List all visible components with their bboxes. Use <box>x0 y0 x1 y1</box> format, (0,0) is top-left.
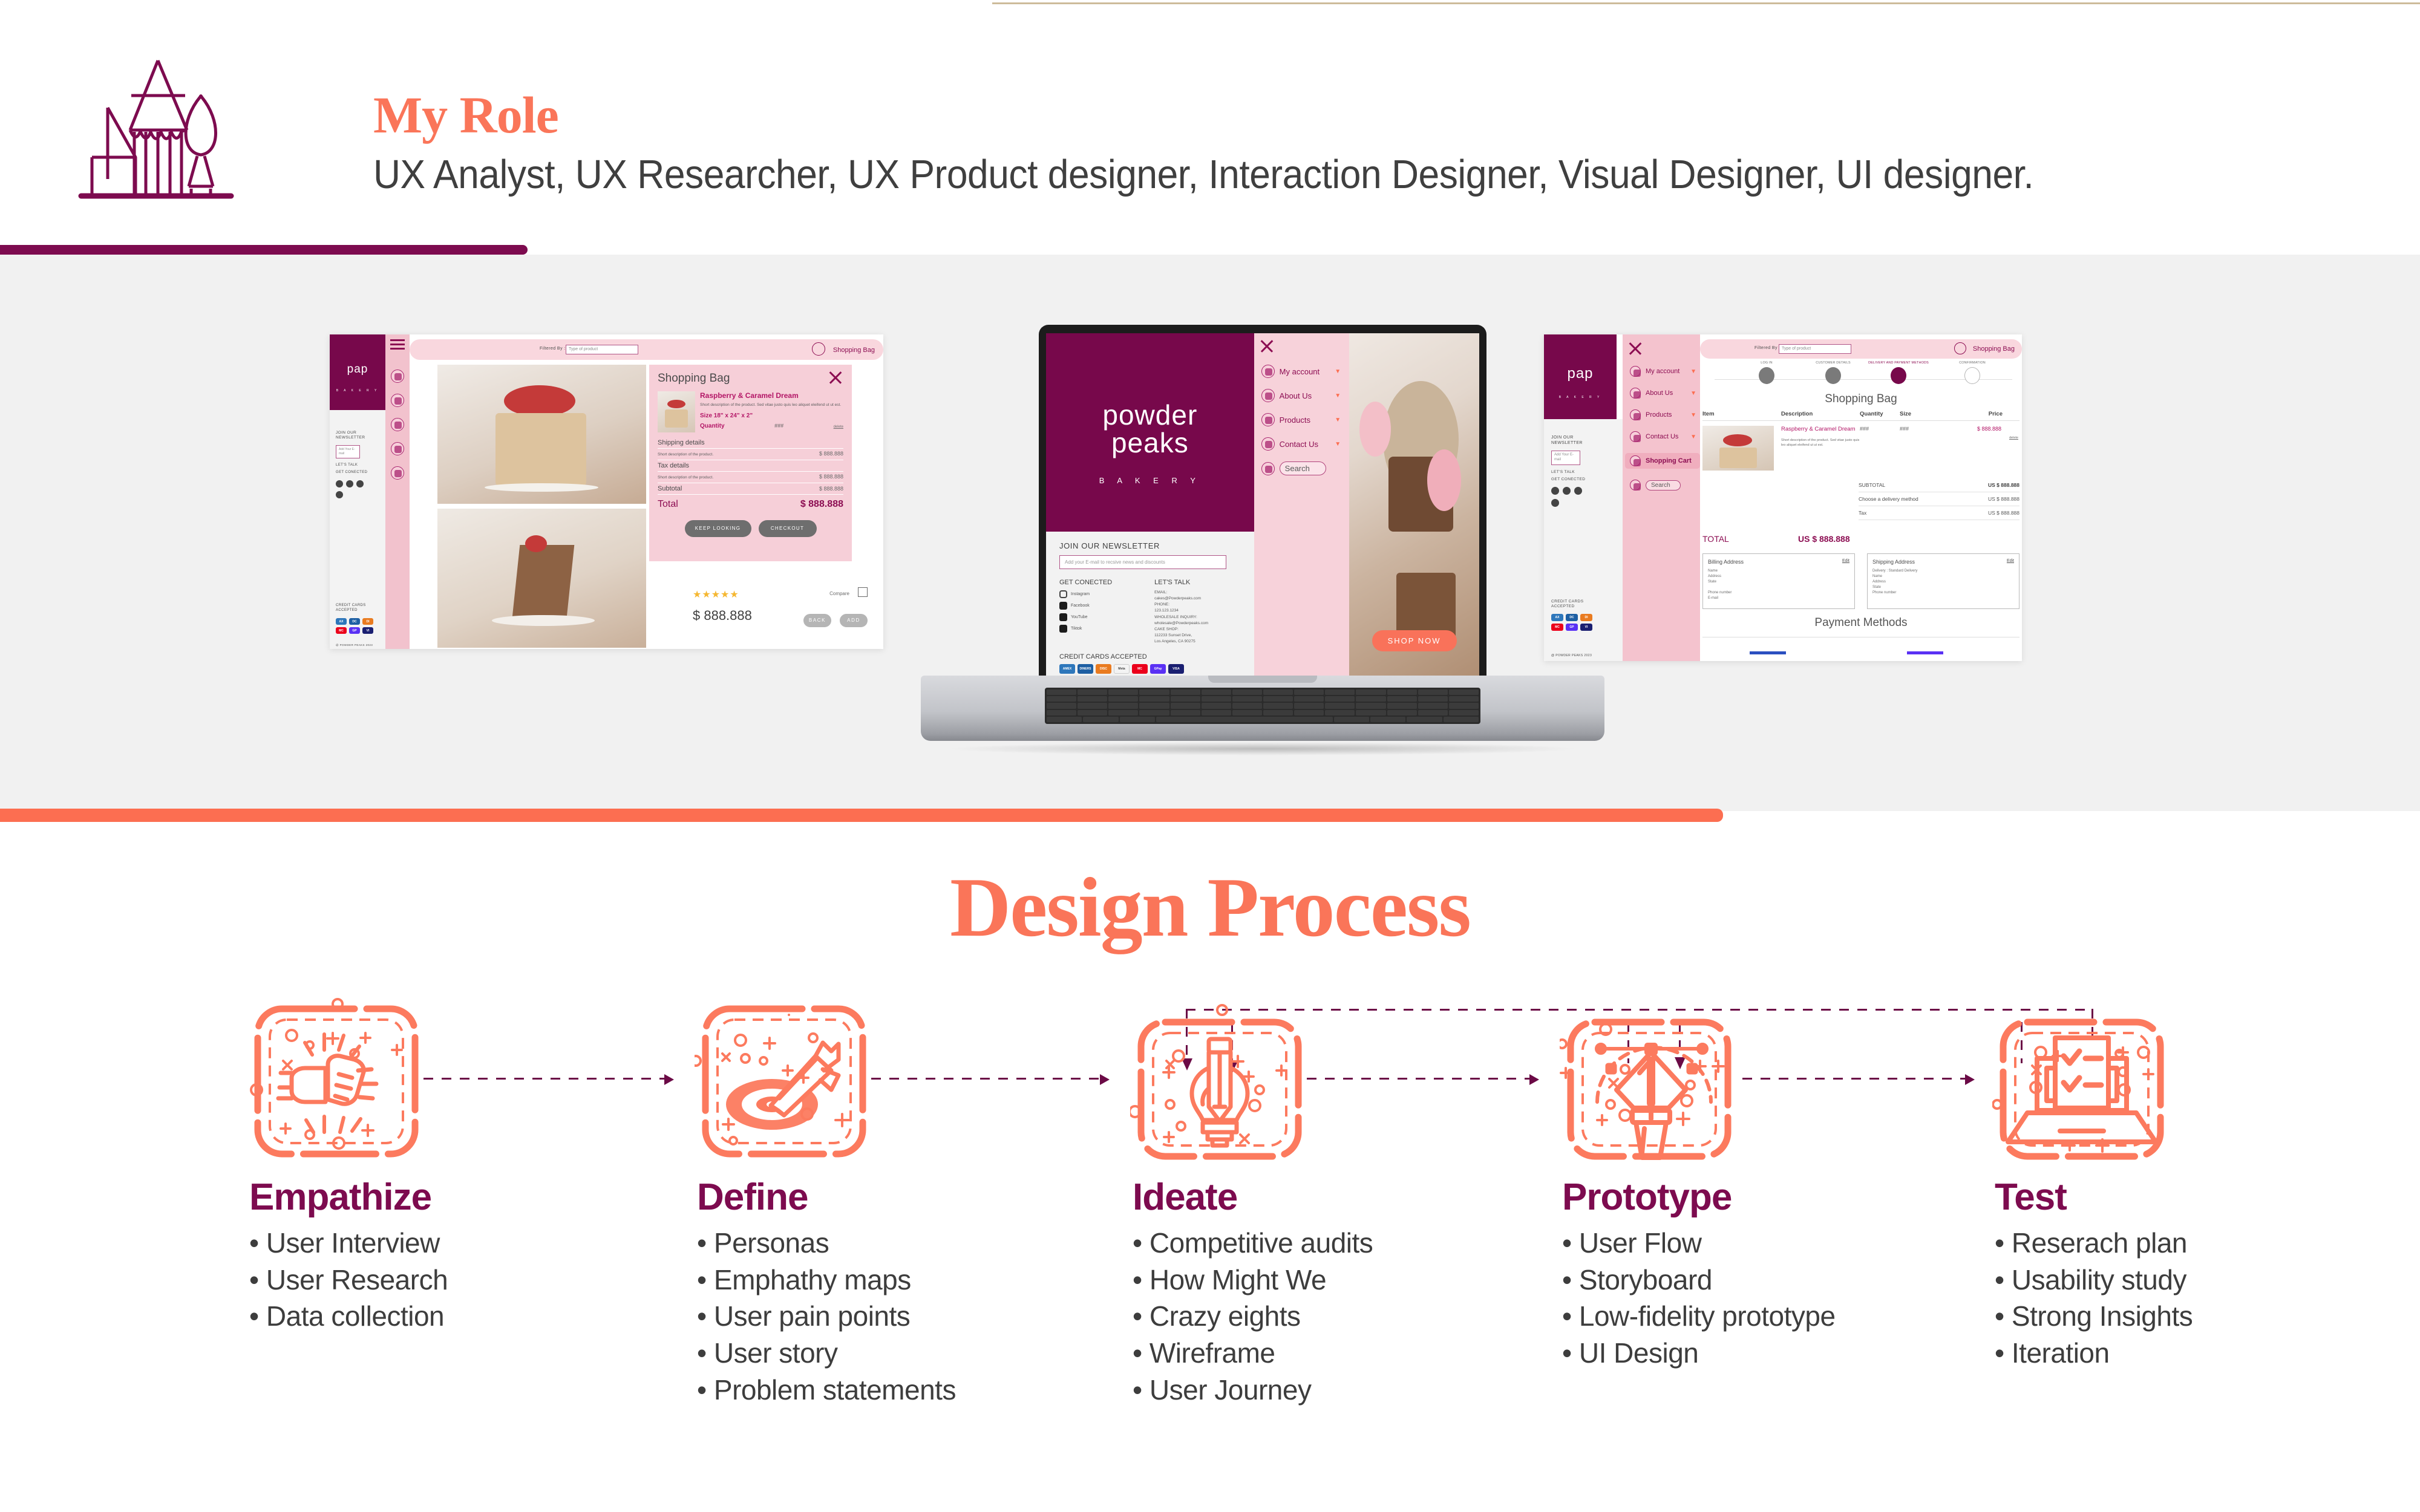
footer-column: JOIN OUR NEWSLETTER Add Your E-mail LET'… <box>1544 419 1623 661</box>
facebook-icon <box>1059 602 1067 610</box>
credit-card-icons: AMEX DINERS DISC Meta MC GPay VISA <box>1059 664 1241 674</box>
newsletter-input[interactable]: Add Your E-mail <box>1551 451 1580 465</box>
search-icon <box>1630 480 1641 490</box>
payment-tab-1[interactable] <box>1750 651 1786 654</box>
list-item: UI Design <box>1562 1335 1978 1372</box>
step-items: Reserach plan Usability study Strong Ins… <box>1995 1225 2411 1372</box>
brand-logo: pap B A K E R Y <box>330 334 385 410</box>
step-title: Test <box>1995 1179 2411 1216</box>
list-item: Problem statements <box>697 1372 1113 1409</box>
step-dot <box>1964 367 1980 384</box>
list-item: Strong Insights <box>1995 1298 2411 1335</box>
close-icon[interactable] <box>828 370 843 385</box>
step-dot-active <box>1891 367 1906 384</box>
nav-item-shopping-cart[interactable]: Shopping Cart <box>1625 453 1700 469</box>
process-step-test[interactable]: Test Reserach plan Usability study Stron… <box>1987 998 2411 1372</box>
shopping-bag-label[interactable]: Shopping Bag <box>1973 345 2015 353</box>
mockup-checkout-page[interactable]: pap B A K E R Y My account ▼ About Us ▼ … <box>1544 334 2022 661</box>
icon-rail[interactable] <box>385 334 410 649</box>
products-icon <box>1630 409 1641 420</box>
copyright: @ POWDER PEAKS 2023 <box>1551 654 1592 657</box>
row-desc: Short description of the product. Sed vi… <box>1781 438 1860 448</box>
shipping-lines: Delivery : Standard Delivery Name Addres… <box>1872 569 2014 596</box>
cards-heading: CREDIT CARDS ACCEPTED <box>1551 599 1583 610</box>
role-description: UX Analyst, UX Researcher, UX Product de… <box>373 151 2033 198</box>
row-qty: ### <box>1860 426 1900 471</box>
nav-item-about-us[interactable]: About Us ▼ <box>1630 388 1700 399</box>
bag-icon[interactable] <box>1954 342 1966 354</box>
list-item: User Research <box>249 1262 665 1299</box>
step-title: Define <box>697 1179 1113 1216</box>
product-photo-cake <box>437 365 646 504</box>
step-items: Competitive audits How Might We Crazy ei… <box>1133 1225 1549 1409</box>
lets-talk-label[interactable]: LET'S TALK <box>1551 470 1575 474</box>
checkout-button[interactable]: CHECKOUT <box>759 520 817 537</box>
list-item: Emphathy maps <box>697 1262 1113 1299</box>
checkout-progress: LOG IN CUSTOMER DETAILS DELIVERY AND PAY… <box>1700 361 2022 390</box>
progress-step-customer[interactable]: CUSTOMER DETAILS <box>1797 361 1869 384</box>
list-item: How Might We <box>1133 1262 1549 1299</box>
filter-label: Filtered By : <box>1754 346 1781 350</box>
bag-product-thumb <box>658 391 695 432</box>
nav-sidebar[interactable]: My account ▼ About Us ▼ Products ▼ <box>1254 333 1350 676</box>
laptop-lid: powder peaks B A K E R Y My account ▼ <box>1039 325 1486 682</box>
brand-logo: powder peaks B A K E R Y <box>1046 333 1254 532</box>
mockup-product-page[interactable]: pap B A K E R Y Filtered By : Type of pr… <box>330 334 883 649</box>
table-row: Raspberry & Caramel Dream Short descript… <box>1702 421 2019 471</box>
bag-qty-value: ### <box>774 423 783 429</box>
lets-talk-label[interactable]: LET'S TALK <box>336 463 358 467</box>
shopping-bag-panel[interactable]: Shopping Bag Raspberry & Caramel Dream S… <box>649 365 852 561</box>
brand-line1: powder <box>1102 399 1197 431</box>
newsletter-heading: JOIN OUR NEWSLETTER <box>1059 541 1241 550</box>
credit-card-icons: AX DC DI MC GP VI <box>336 618 379 634</box>
process-step-ideate[interactable]: Ideate Competitive audits How Might We C… <box>1125 998 1549 1409</box>
billing-title: Billing Address <box>1708 559 1744 565</box>
list-item: User Flow <box>1562 1225 1978 1262</box>
nav-item-my-account[interactable]: My account ▼ <box>1630 366 1700 377</box>
laptop-notch <box>1208 676 1317 683</box>
account-icon[interactable] <box>391 370 404 383</box>
close-icon[interactable] <box>1259 338 1275 354</box>
list-item: User pain points <box>697 1298 1113 1335</box>
list-item: Personas <box>697 1225 1113 1262</box>
brand-logo: pap B A K E R Y <box>1544 334 1617 419</box>
social-facebook[interactable]: Facebook <box>1059 602 1139 610</box>
fist-bump-icon <box>247 998 428 1164</box>
shopping-bag-label[interactable]: Shopping Bag <box>833 347 875 354</box>
progress-step-login[interactable]: LOG IN <box>1730 361 1803 384</box>
header-section: My Role UX Analyst, UX Researcher, UX Pr… <box>0 0 2420 260</box>
list-item: Storyboard <box>1562 1262 1978 1299</box>
bag-product-name: Raspberry & Caramel Dream <box>700 391 843 400</box>
list-item: Low-fidelity prototype <box>1562 1298 1978 1335</box>
filter-select[interactable]: Type of product <box>566 345 638 354</box>
row-product: Raspberry & Caramel Dream <box>1781 426 1860 433</box>
bag-product-desc: Short description of the product. Sed vi… <box>700 403 843 408</box>
section-title: Design Process <box>0 859 2420 956</box>
nav-label: About Us <box>1280 391 1312 400</box>
row-price: $ 888.888 <box>1940 426 2019 471</box>
chevron-down-icon: ▼ <box>1690 390 1696 397</box>
nav-label: My account <box>1280 367 1320 376</box>
newsletter-input[interactable]: Add your E-mail to recsive news and disc… <box>1059 555 1226 569</box>
tiktok-icon[interactable] <box>336 491 343 498</box>
nav-item-my-account[interactable]: My account ▼ <box>1261 365 1350 378</box>
contact-icon <box>1261 437 1275 451</box>
step-title: Prototype <box>1562 1179 1978 1216</box>
top-hairline <box>992 2 2420 4</box>
back-button[interactable]: BACK <box>803 614 831 627</box>
nav-search[interactable]: Search <box>1261 461 1350 475</box>
list-item: Usability study <box>1995 1262 2411 1299</box>
total-value: US $ 888.888 <box>1798 534 1850 545</box>
table-row: Tax details <box>658 460 843 472</box>
footer-panel: JOIN OUR NEWSLETTER Add your E-mail to r… <box>1046 532 1254 676</box>
total-label: TOTAL <box>1702 534 1729 545</box>
step-title: Empathize <box>249 1179 665 1216</box>
header-divider <box>0 245 528 255</box>
lets-talk-heading: LET'S TALK <box>1154 579 1241 586</box>
table-header: Item Description Quantity Size Price <box>1702 411 2019 421</box>
edit-link[interactable]: Edit <box>1842 559 1849 565</box>
bag-icon[interactable] <box>812 342 825 356</box>
instagram-icon <box>1059 590 1067 598</box>
step-items: Personas Emphathy maps User pain points … <box>697 1225 1113 1409</box>
bag-panel-title: Shopping Bag <box>658 372 843 385</box>
pen-tool-icon <box>1560 998 1741 1164</box>
step-title: Ideate <box>1133 1179 1549 1216</box>
step-dot <box>1825 367 1841 384</box>
list-item: User Journey <box>1133 1372 1549 1409</box>
table-row: Shipping details <box>658 437 843 449</box>
footer-column: JOIN OUR NEWSLETTER Add Your E-mail LET'… <box>330 410 385 649</box>
list-item: User story <box>697 1335 1113 1372</box>
laptop-mockup[interactable]: powder peaks B A K E R Y My account ▼ <box>921 325 1604 760</box>
shipping-address-box[interactable]: Shipping Address Edit Delivery : Standar… <box>1867 553 2019 609</box>
laptop-checklist-icon <box>1992 998 2174 1164</box>
get-connected-heading: GET CONECTED <box>1059 579 1139 586</box>
filter-bar[interactable]: Filtered By : Type of product Shopping B… <box>410 339 883 360</box>
copyright: @ POWDER PEAKS 2023 <box>336 644 373 647</box>
search-icon <box>1261 462 1275 475</box>
bag-table: Item Description Quantity Size Price Ras… <box>1702 411 2019 471</box>
bag-qty-label: Quantity <box>700 423 725 429</box>
contact-icon[interactable] <box>391 442 404 455</box>
payment-tab-2[interactable] <box>1907 651 1943 654</box>
about-icon <box>1630 388 1641 399</box>
table-row: Short description of the product. $ 888.… <box>658 449 843 460</box>
step-items: User Flow Storyboard Low-fidelity protot… <box>1562 1225 1978 1372</box>
row-thumb <box>1702 426 1774 471</box>
shop-now-button[interactable]: SHOP NOW <box>1372 630 1457 651</box>
list-item: Data collection <box>249 1298 665 1335</box>
contact-icon <box>1630 431 1641 442</box>
account-icon <box>1630 366 1641 377</box>
list-item: Wireframe <box>1133 1335 1549 1372</box>
row-size: ### <box>1900 426 1940 471</box>
list-item: Competitive audits <box>1133 1225 1549 1262</box>
chevron-down-icon: ▼ <box>1335 417 1341 423</box>
edit-link[interactable]: Edit <box>2007 559 2014 565</box>
newsletter-input[interactable]: Add Your E-mail <box>336 445 360 458</box>
contact-details: EMAIL: cakes@Powderpeaks.com PHONE: 123.… <box>1154 590 1241 645</box>
chevron-down-icon: ▼ <box>1335 368 1341 375</box>
divider <box>1702 637 2019 637</box>
list-item: Reserach plan <box>1995 1225 2411 1262</box>
nav-item-contact-us[interactable]: Contact Us ▼ <box>1261 437 1350 451</box>
nav-label: Products <box>1280 415 1310 425</box>
search-icon[interactable] <box>391 466 404 480</box>
product-price: $ 888.888 <box>693 608 752 624</box>
design-tools-icon <box>73 36 278 218</box>
step-dot <box>1759 367 1774 384</box>
row-delete-link[interactable]: delete <box>2009 436 2018 440</box>
social-tiktok[interactable]: Tiktok <box>1059 625 1139 633</box>
process-step-prototype[interactable]: Prototype User Flow Storyboard Low-fidel… <box>1555 998 1978 1372</box>
youtube-icon <box>1059 613 1067 621</box>
bag-total-row: Total $ 888.888 <box>658 497 843 512</box>
chevron-down-icon: ▼ <box>1690 412 1696 419</box>
get-connected-label: GET CONECTED <box>336 471 367 474</box>
payment-heading: Payment Methods <box>1700 616 2022 630</box>
compare-checkbox[interactable] <box>858 587 868 597</box>
step-items: User Interview User Research Data collec… <box>249 1225 665 1335</box>
filter-select[interactable]: Type of product <box>1779 344 1851 354</box>
add-button[interactable]: ADD <box>840 614 868 627</box>
process-step-empathize[interactable]: Empathize User Interview User Research D… <box>242 998 665 1335</box>
filter-bar[interactable]: Filtered By : Type of product Shopping B… <box>1700 339 2022 359</box>
social-youtube[interactable]: YouTube <box>1059 613 1139 621</box>
chevron-down-icon: ▼ <box>1690 434 1696 440</box>
cart-icon <box>1630 455 1641 466</box>
close-icon[interactable] <box>1627 341 1643 356</box>
portfolio-slide: My Role UX Analyst, UX Researcher, UX Pr… <box>0 0 2420 1512</box>
newsletter-heading: JOIN OUR NEWSLETTER <box>1551 435 1583 446</box>
lightbulb-pencil-icon <box>1130 998 1312 1164</box>
process-step-define[interactable]: Define Personas Emphathy maps User pain … <box>690 998 1113 1409</box>
table-row: Short description of the product. $ 888.… <box>658 472 843 483</box>
newsletter-heading: JOIN OUR NEWSLETTER <box>336 431 365 441</box>
bag-delete-link[interactable]: delete <box>834 425 843 429</box>
bag-heading: Shopping Bag <box>1700 393 2022 406</box>
chevron-down-icon: ▼ <box>1335 441 1341 448</box>
hero-cake-photo: SHOP NOW <box>1349 333 1479 676</box>
list-item: Crazy eights <box>1133 1298 1549 1335</box>
nav-item-contact-us[interactable]: Contact Us ▼ <box>1630 431 1700 442</box>
summary-rows: SUBTOTAL US $ 888.888 Choose a delivery … <box>1859 478 2019 520</box>
billing-address-box[interactable]: Billing Address Edit Name Address State … <box>1702 553 1855 609</box>
products-icon[interactable] <box>391 418 404 431</box>
list-item: User Interview <box>249 1225 665 1262</box>
connector-arrow-1 <box>664 1074 674 1085</box>
progress-step-confirmation[interactable]: CONFIRMATION <box>1936 361 2009 384</box>
chevron-down-icon: ▼ <box>1335 393 1341 399</box>
credit-card-icons: AX DC DI MC GP VI <box>1551 614 1602 631</box>
page-title: My Role <box>373 85 558 145</box>
laptop-keyboard <box>1045 688 1480 724</box>
social-icons[interactable] <box>1551 487 1582 495</box>
filter-label: Filtered By : <box>540 347 566 351</box>
bag-size: Size 18" x 24" x 2" <box>700 412 843 419</box>
products-icon <box>1261 413 1275 426</box>
nav-sidebar[interactable]: My account ▼ About Us ▼ Products ▼ Conta… <box>1623 334 1700 661</box>
search-input[interactable]: Search <box>1646 480 1681 490</box>
compare-label[interactable]: Compare <box>829 591 849 596</box>
cards-heading: CREDIT CARDS ACCEPTED <box>336 604 366 613</box>
laptop-screen[interactable]: powder peaks B A K E R Y My account ▼ <box>1046 333 1479 676</box>
showcase-divider <box>0 809 1723 822</box>
progress-step-delivery[interactable]: DELIVERY AND PAYMENT METHODS <box>1862 361 1935 384</box>
brand-sub: B A K E R Y <box>1046 476 1254 485</box>
brand-line2: peaks <box>1111 427 1189 458</box>
table-row: Choose a delivery method US $ 888.888 <box>1859 492 2019 506</box>
design-process-steps: Empathize User Interview User Research D… <box>0 998 2420 1482</box>
nav-item-products[interactable]: Products ▼ <box>1261 413 1350 426</box>
target-dart-icon <box>695 998 876 1164</box>
nav-item-about-us[interactable]: About Us ▼ <box>1261 389 1350 402</box>
table-row: SUBTOTAL US $ 888.888 <box>1859 478 2019 492</box>
nav-item-products[interactable]: Products ▼ <box>1630 409 1700 420</box>
tiktok-icon[interactable] <box>1551 499 1559 507</box>
billing-lines: Name Address State Phone number E-mail <box>1708 569 1849 601</box>
bag-summary-rows: Shipping details Short description of th… <box>658 437 843 512</box>
about-icon <box>1261 389 1275 402</box>
laptop-shadow <box>945 742 1580 755</box>
rating-stars: ★★★★★ <box>693 588 739 601</box>
table-row: Tax US $ 888.888 <box>1859 506 2019 520</box>
keep-looking-button[interactable]: KEEP LOOKING <box>685 520 751 537</box>
list-item: Iteration <box>1995 1335 2411 1372</box>
account-icon <box>1261 365 1275 378</box>
table-row: Subtotal $ 888.888 <box>658 483 843 495</box>
tiktok-icon <box>1059 625 1067 633</box>
social-instagram[interactable]: Instagram <box>1059 590 1139 598</box>
about-icon[interactable] <box>391 394 404 407</box>
shipping-title: Shipping Address <box>1872 559 1915 565</box>
nav-label: Contact Us <box>1280 440 1318 449</box>
search-input[interactable]: Search <box>1280 461 1326 475</box>
nav-search[interactable]: Search <box>1630 480 1700 490</box>
social-icons[interactable] <box>336 480 364 487</box>
get-connected-label: GET CONECTED <box>1551 477 1585 481</box>
cards-heading: CREDIT CARDS ACCEPTED <box>1059 653 1241 660</box>
chevron-down-icon: ▼ <box>1690 368 1696 375</box>
product-photo-slice <box>437 509 646 648</box>
